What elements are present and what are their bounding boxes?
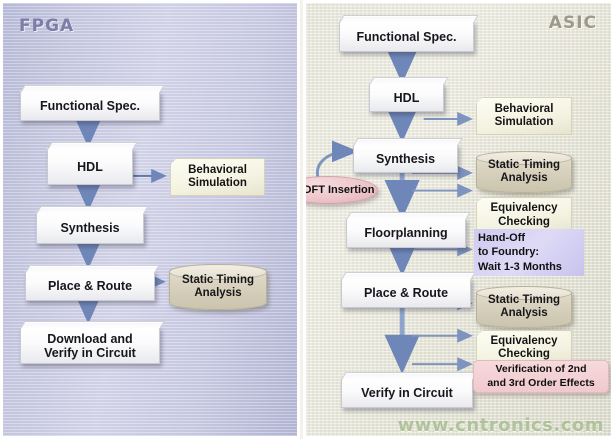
asic-callout-dft-insertion[interactable]: DFT Insertion (303, 176, 378, 204)
asic-side-behavioral-simulation-line1: Behavioral (495, 103, 554, 116)
asic-side-static-timing-analysis-2-line1: Static Timing (488, 294, 560, 307)
asic-step-place-and-route-label: Place & Route (364, 286, 448, 300)
asic-step-functional-spec-label: Functional Spec. (356, 30, 456, 44)
fpga-side-static-timing-analysis-line1: Static Timing (182, 274, 254, 287)
asic-step-floorplanning[interactable]: Floorplanning (346, 218, 466, 248)
asic-side-hand-off-line1: Hand-Off (478, 231, 525, 245)
fpga-step-download-verify[interactable]: Download and Verify in Circuit (20, 327, 160, 364)
asic-side-static-timing-analysis-2[interactable]: Static Timing Analysis (476, 286, 572, 328)
asic-panel: ASIC (303, 0, 614, 439)
fpga-step-hdl-label: HDL (77, 160, 103, 174)
asic-side-equivalency-checking-1-line2: Checking (498, 216, 550, 229)
fpga-side-behavioral-simulation-line1: Behavioral (188, 164, 247, 177)
asic-step-place-and-route[interactable]: Place & Route (341, 278, 471, 308)
asic-side-static-timing-analysis-1[interactable]: Static Timing Analysis (476, 151, 572, 193)
watermark: www.cntronics.com (398, 415, 604, 436)
fpga-panel: FPGA Functional (0, 0, 300, 439)
asic-side-hand-off-line3: Wait 1-3 Months (478, 260, 562, 274)
asic-side-verification-2nd-3rd-order[interactable]: Verification of 2nd and 3rd Order Effect… (473, 360, 609, 393)
fpga-step-synthesis-label: Synthesis (60, 221, 119, 235)
fpga-step-functional-spec-label: Functional Spec. (40, 99, 140, 113)
asic-side-equivalency-checking-1-line1: Equivalency (490, 202, 557, 215)
asic-side-verification-line2: and 3rd Order Effects (487, 377, 594, 390)
asic-step-hdl[interactable]: HDL (369, 83, 444, 112)
asic-step-synthesis-label: Synthesis (376, 152, 435, 166)
asic-step-hdl-label: HDL (394, 91, 420, 105)
asic-side-hand-off-to-foundry[interactable]: Hand-Off to Foundry: Wait 1-3 Months (474, 229, 584, 276)
fpga-step-place-and-route-label: Place & Route (48, 279, 132, 293)
fpga-step-functional-spec[interactable]: Functional Spec. (20, 91, 160, 121)
fpga-step-download-verify-line1: Download and (47, 332, 132, 346)
fpga-side-behavioral-simulation-line2: Simulation (188, 177, 247, 190)
fpga-panel-title: FPGA (19, 16, 74, 36)
asic-side-static-timing-analysis-1-line1: Static Timing (488, 159, 560, 172)
fpga-side-behavioral-simulation[interactable]: Behavioral Simulation (170, 158, 265, 196)
fpga-side-static-timing-analysis[interactable]: Static Timing Analysis (169, 264, 267, 310)
asic-side-equivalency-checking-2-line1: Equivalency (490, 335, 557, 348)
asic-panel-title: ASIC (549, 13, 597, 33)
asic-step-synthesis[interactable]: Synthesis (353, 144, 458, 173)
fpga-side-static-timing-analysis-line2: Analysis (182, 287, 254, 300)
fpga-step-synthesis[interactable]: Synthesis (36, 212, 144, 244)
asic-side-static-timing-analysis-1-line2: Analysis (488, 172, 560, 185)
asic-side-hand-off-line2: to Foundry: (478, 245, 539, 259)
design-flow-diagram: FPGA Functional (0, 0, 614, 439)
asic-side-verification-line1: Verification of 2nd (495, 363, 586, 376)
fpga-step-download-verify-line2: Verify in Circuit (44, 346, 136, 360)
asic-side-behavioral-simulation[interactable]: Behavioral Simulation (476, 97, 572, 135)
fpga-step-place-and-route[interactable]: Place & Route (25, 271, 155, 301)
fpga-step-hdl[interactable]: HDL (47, 148, 133, 185)
asic-callout-dft-insertion-label: DFT Insertion (303, 184, 374, 196)
asic-step-functional-spec[interactable]: Functional Spec. (339, 21, 474, 52)
asic-side-static-timing-analysis-2-line2: Analysis (488, 307, 560, 320)
asic-side-behavioral-simulation-line2: Simulation (495, 116, 554, 129)
asic-step-floorplanning-label: Floorplanning (364, 226, 447, 240)
asic-step-verify-in-circuit-label: Verify in Circuit (361, 386, 453, 400)
asic-step-verify-in-circuit[interactable]: Verify in Circuit (341, 378, 473, 408)
